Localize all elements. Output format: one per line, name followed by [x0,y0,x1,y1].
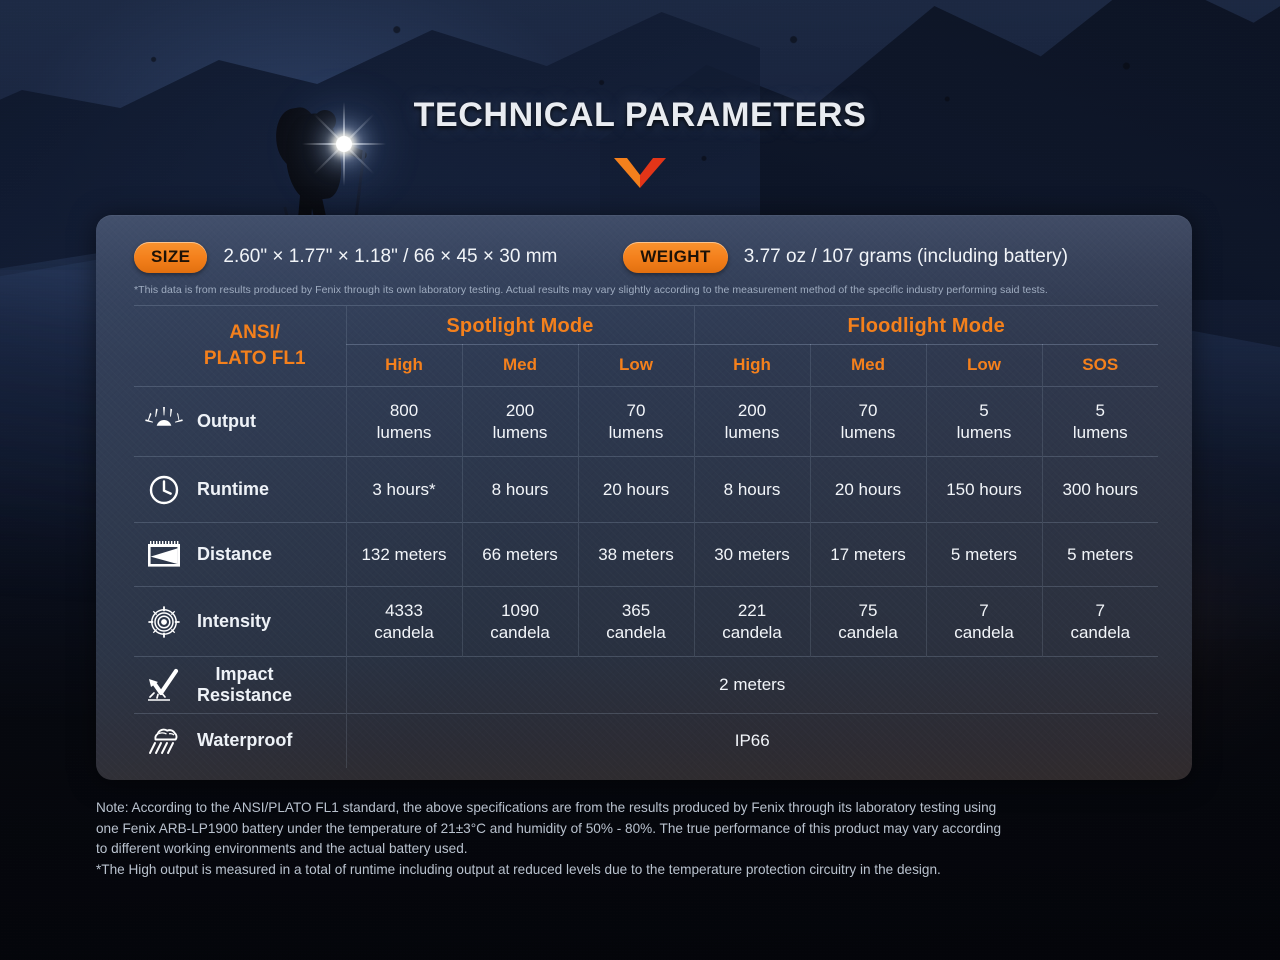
cell-waterproof-value: IP66 [346,714,1158,768]
cell-intensity-spot-low: 365 candela [578,587,694,657]
value-unit: candela [697,622,808,643]
table-row-distance: Distance 132 meters 66 meters 38 meters … [134,523,1158,587]
lab-testing-disclaimer: *This data is from results produced by F… [134,284,1158,296]
cell-intensity-flood-sos: 7 candela [1042,587,1158,657]
value-unit: candela [929,622,1040,643]
table-header-mode-row: ANSI/ PLATO FL1 Spotlight Mode Floodligh… [134,306,1158,345]
table-row-runtime: Runtime 3 hours* 8 hours 20 hours 8 hour… [134,457,1158,523]
value-number: 70 [813,400,924,421]
value-unit: candela [813,622,924,643]
table-row-impact-resistance: Impact Resistance 2 meters [134,657,1158,714]
cell-distance-flood-low: 5 meters [926,523,1042,587]
cell-output-spot-med: 200 lumens [462,387,578,457]
weight-value: 3.77 oz / 107 grams (including battery) [744,246,1068,268]
cell-output-flood-med: 70 lumens [810,387,926,457]
footnote-line-1: Note: According to the ANSI/PLATO FL1 st… [96,798,1188,819]
row-label-distance: Distance [134,523,346,587]
cell-output-flood-low: 5 lumens [926,387,1042,457]
table-row-intensity: Intensity 4333 candela 1090 candela 365 … [134,587,1158,657]
level-floodlight-low: Low [926,345,1042,387]
ansi-line-2: PLATO FL1 [164,346,346,372]
cell-runtime-spot-high: 3 hours* [346,457,462,523]
cell-intensity-spot-med: 1090 candela [462,587,578,657]
value-unit: lumens [929,422,1040,443]
cell-distance-flood-sos: 5 meters [1042,523,1158,587]
value-unit: candela [465,622,576,643]
row-label-intensity: Intensity [134,587,346,657]
value-number: 7 [1045,600,1157,621]
value-number: 5 [929,400,1040,421]
cell-impact-resistance-value: 2 meters [346,657,1158,714]
mode-group-floodlight: Floodlight Mode [694,306,1158,345]
clock-icon [144,472,184,508]
level-floodlight-high: High [694,345,810,387]
mode-group-spotlight: Spotlight Mode [346,306,694,345]
value-number: 7 [929,600,1040,621]
value-unit: candela [581,622,692,643]
value-number: 200 [465,400,576,421]
value-number: 70 [581,400,692,421]
title-container: TECHNICAL PARAMETERS [0,96,1280,135]
value-number: 5 [1045,400,1157,421]
cell-runtime-spot-med: 8 hours [462,457,578,523]
cell-output-spot-high: 800 lumens [346,387,462,457]
size-value: 2.60" × 1.77" × 1.18" / 66 × 45 × 30 mm [223,246,557,268]
value-number: 200 [697,400,808,421]
value-number: 221 [697,600,808,621]
row-label-output: Output [134,387,346,457]
cell-intensity-flood-high: 221 candela [694,587,810,657]
value-number: 4333 [349,600,460,621]
cell-distance-flood-med: 17 meters [810,523,926,587]
row-label-text-runtime: Runtime [197,479,269,500]
value-unit: lumens [697,422,808,443]
value-unit: lumens [349,422,460,443]
footnote: Note: According to the ANSI/PLATO FL1 st… [96,798,1188,881]
cell-output-flood-high: 200 lumens [694,387,810,457]
level-floodlight-med: Med [810,345,926,387]
cell-distance-flood-high: 30 meters [694,523,810,587]
size-weight-row: SIZE 2.60" × 1.77" × 1.18" / 66 × 45 × 3… [134,237,1158,277]
cell-output-spot-low: 70 lumens [578,387,694,457]
table-row-output: Output 800 lumens 200 lumens 70 lumens [134,387,1158,457]
impact-label-line-1: Impact [197,664,292,685]
cell-runtime-flood-high: 8 hours [694,457,810,523]
level-spotlight-low: Low [578,345,694,387]
cell-intensity-flood-low: 7 candela [926,587,1042,657]
value-number: 75 [813,600,924,621]
value-number: 1090 [465,600,576,621]
target-crosshair-icon [144,604,184,640]
row-label-text-output: Output [197,411,256,432]
row-label-text-waterproof: Waterproof [197,730,292,751]
weight-badge: WEIGHT [623,242,727,273]
value-number: 800 [349,400,460,421]
cell-intensity-spot-high: 4333 candela [346,587,462,657]
chevron-down-double-icon [0,158,1280,192]
cell-output-flood-sos: 5 lumens [1042,387,1158,457]
technical-parameters-panel: SIZE 2.60" × 1.77" × 1.18" / 66 × 45 × 3… [96,215,1192,780]
level-floodlight-sos: SOS [1042,345,1158,387]
cell-runtime-flood-sos: 300 hours [1042,457,1158,523]
cell-runtime-spot-low: 20 hours [578,457,694,523]
value-unit: lumens [581,422,692,443]
table-row-waterproof: Waterproof IP66 [134,714,1158,768]
cell-distance-spot-med: 66 meters [462,523,578,587]
parameters-table: ANSI/ PLATO FL1 Spotlight Mode Floodligh… [134,305,1158,768]
row-label-waterproof: Waterproof [134,714,346,768]
cell-intensity-flood-med: 75 candela [810,587,926,657]
weight-group: WEIGHT 3.77 oz / 107 grams (including ba… [623,242,1068,273]
row-label-text-distance: Distance [197,544,272,565]
value-unit: lumens [1045,422,1157,443]
ansi-plato-label: ANSI/ PLATO FL1 [134,306,346,387]
value-number: 365 [581,600,692,621]
size-badge: SIZE [134,242,207,273]
footnote-line-4: *The High output is measured in a total … [96,860,1188,881]
value-unit: candela [1045,622,1157,643]
page-title: TECHNICAL PARAMETERS [0,96,1280,135]
ansi-line-1: ANSI/ [164,320,346,346]
level-spotlight-med: Med [462,345,578,387]
row-label-runtime: Runtime [134,457,346,523]
cell-runtime-flood-med: 20 hours [810,457,926,523]
beam-distance-ruler-icon [144,537,184,573]
footnote-line-2: one Fenix ARB-LP1900 battery under the t… [96,819,1188,840]
sunburst-icon [144,404,184,440]
rain-cloud-icon [144,723,184,759]
row-label-text-impact-resistance: Impact Resistance [197,664,292,706]
value-unit: lumens [465,422,576,443]
value-unit: candela [349,622,460,643]
impact-checkmark-icon [144,667,184,703]
cell-distance-spot-low: 38 meters [578,523,694,587]
row-label-text-intensity: Intensity [197,611,271,632]
row-label-impact-resistance: Impact Resistance [134,657,346,714]
cell-distance-spot-high: 132 meters [346,523,462,587]
cell-runtime-flood-low: 150 hours [926,457,1042,523]
level-spotlight-high: High [346,345,462,387]
impact-label-line-2: Resistance [197,685,292,706]
footnote-line-3: to different working environments and th… [96,839,1188,860]
value-unit: lumens [813,422,924,443]
